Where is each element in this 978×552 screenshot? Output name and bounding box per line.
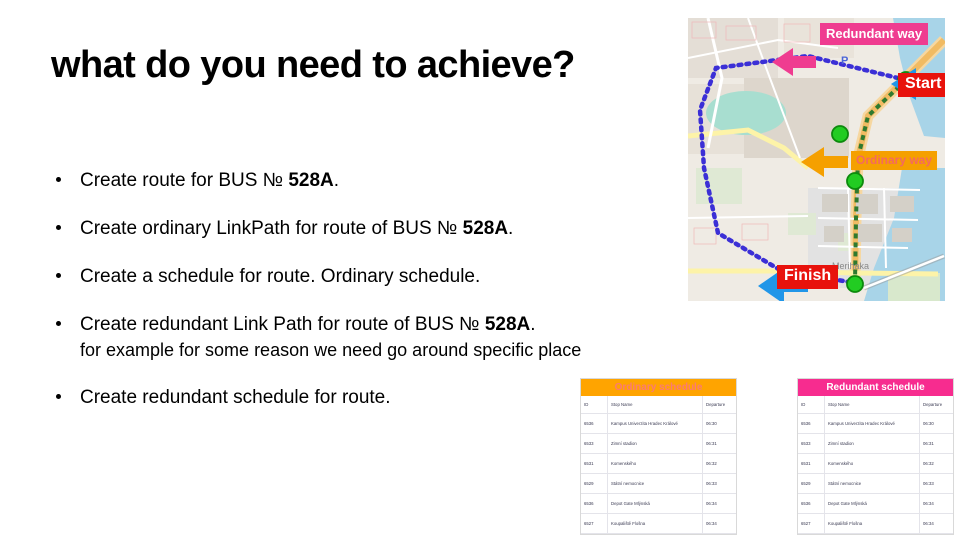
cell-stop-name: Komenského — [825, 454, 920, 474]
cell-id: 6531 — [798, 454, 825, 474]
bullet-dot-icon — [56, 273, 61, 278]
bullet-dot-icon — [56, 321, 61, 326]
cell-id: 6536 — [581, 494, 608, 514]
cell-id: 6533 — [581, 434, 608, 454]
bullet-text-tail: . — [508, 218, 513, 239]
table-row: 6536 Depot Gate Mlýnská 06:34 — [798, 494, 953, 514]
table-row: 6536 Depot Gate Mlýnská 06:34 — [581, 494, 736, 514]
presentation-slide: what do you need to achieve? Create rout… — [0, 0, 978, 552]
cell-stop-name: Zimní stadion — [825, 434, 920, 454]
table-row: 6536 Kampus Univerzita Hradec Králové 06… — [581, 414, 736, 434]
map-label-redundant-way: Redundant way — [820, 23, 928, 45]
cell-stop-name: Státní nemocnice — [608, 474, 703, 494]
cell-id: 6527 — [798, 514, 825, 534]
svg-text:P: P — [841, 55, 848, 67]
column-header-id: ID — [798, 396, 825, 414]
list-item: Create ordinary LinkPath for route of BU… — [52, 216, 692, 241]
table-row: 6536 Kampus Univerzita Hradec Králové 06… — [798, 414, 953, 434]
bullet-bold: 528A — [288, 170, 333, 191]
column-header-stop-name: Stop Name — [608, 396, 703, 414]
cell-departure: 06:34 — [703, 494, 737, 514]
cell-departure: 06:32 — [920, 454, 954, 474]
bullet-text-tail: . — [334, 170, 339, 191]
schedule-body: 6536 Kampus Univerzita Hradec Králové 06… — [798, 414, 953, 534]
cell-id: 6536 — [798, 414, 825, 434]
bullet-text: Create ordinary LinkPath for route of BU… — [80, 218, 463, 239]
cell-departure: 06:31 — [703, 434, 737, 454]
bullet-text-tail: . — [530, 314, 535, 335]
cell-id: 6533 — [798, 434, 825, 454]
cell-departure: 06:33 — [703, 474, 737, 494]
cell-id: 6536 — [798, 494, 825, 514]
cell-departure: 06:31 — [920, 434, 954, 454]
bullet-text: Create redundant schedule for route. — [80, 387, 391, 408]
column-header-stop-name: Stop Name — [825, 396, 920, 414]
list-item: Create route for BUS № 528A. — [52, 168, 692, 193]
ordinary-schedule-title: Ordinary schedule — [581, 379, 736, 396]
cell-departure: 06:34 — [703, 514, 737, 534]
table-row: 6529 Státní nemocnice 06:33 — [581, 474, 736, 494]
stop-marker — [847, 173, 863, 189]
ordinary-schedule-table: Ordinary schedule ID Stop Name Departure… — [580, 378, 737, 535]
cell-stop-name: Koupaliště Flošna — [825, 514, 920, 534]
cell-departure: 06:30 — [703, 414, 737, 434]
bullet-dot-icon — [56, 394, 61, 399]
cell-stop-name: Zimní stadion — [608, 434, 703, 454]
schedule-grid: ID Stop Name Departure 6536 Kampus Unive… — [798, 396, 953, 534]
cell-stop-name: Kampus Univerzita Hradec Králové — [825, 414, 920, 434]
bullet-text: Create redundant Link Path for route of … — [80, 314, 485, 335]
bullet-text: Create a schedule for route. Ordinary sc… — [80, 266, 480, 287]
list-item: Create redundant Link Path for route of … — [52, 312, 692, 362]
cell-departure: 06:34 — [920, 514, 954, 534]
redundant-schedule-table: Redundant schedule ID Stop Name Departur… — [797, 378, 954, 535]
cell-id: 6529 — [581, 474, 608, 494]
bullet-text: Create route for BUS № — [80, 170, 288, 191]
stop-marker — [847, 276, 863, 292]
bullet-bold: 528A — [485, 314, 530, 335]
cell-stop-name: Státní nemocnice — [825, 474, 920, 494]
cell-stop-name: Komenského — [608, 454, 703, 474]
table-row: 6529 Státní nemocnice 06:33 — [798, 474, 953, 494]
column-header-id: ID — [581, 396, 608, 414]
cell-departure: 06:30 — [920, 414, 954, 434]
table-row: 6527 Koupaliště Flošna 06:34 — [798, 514, 953, 534]
bullet-dot-icon — [56, 225, 61, 230]
redundant-schedule-title: Redundant schedule — [798, 379, 953, 396]
table-header-row: ID Stop Name Departure — [798, 396, 953, 414]
stop-marker — [832, 126, 848, 142]
cell-stop-name: Kampus Univerzita Hradec Králové — [608, 414, 703, 434]
table-row: 6531 Komenského 06:32 — [581, 454, 736, 474]
cell-stop-name: Koupaliště Flošna — [608, 514, 703, 534]
cell-id: 6536 — [581, 414, 608, 434]
cell-departure: 06:34 — [920, 494, 954, 514]
cell-id: 6529 — [798, 474, 825, 494]
cell-stop-name: Depot Gate Mlýnská — [825, 494, 920, 514]
column-header-departure: Departure — [920, 396, 954, 414]
list-item: Create a schedule for route. Ordinary sc… — [52, 264, 692, 289]
bullet-bold: 528A — [463, 218, 508, 239]
column-header-departure: Departure — [703, 396, 737, 414]
page-title: what do you need to achieve? — [51, 44, 575, 87]
cell-id: 6531 — [581, 454, 608, 474]
map-label-start: Start — [898, 73, 945, 97]
bullet-subtext: for example for some reason we need go a… — [80, 338, 692, 362]
table-header-row: ID Stop Name Departure — [581, 396, 736, 414]
table-row: 6527 Koupaliště Flošna 06:34 — [581, 514, 736, 534]
schedule-body: 6536 Kampus Univerzita Hradec Králové 06… — [581, 414, 736, 534]
map-label-ordinary-way: Ordinary way — [851, 151, 937, 170]
table-row: 6531 Komenského 06:32 — [798, 454, 953, 474]
cell-stop-name: Depot Gate Mlýnská — [608, 494, 703, 514]
route-map-image: P Merihaka Redundant way Ordinary way St… — [688, 18, 945, 301]
cell-id: 6527 — [581, 514, 608, 534]
schedule-grid: ID Stop Name Departure 6536 Kampus Unive… — [581, 396, 736, 534]
bullet-dot-icon — [56, 177, 61, 182]
cell-departure: 06:33 — [920, 474, 954, 494]
cell-departure: 06:32 — [703, 454, 737, 474]
table-row: 6533 Zimní stadion 06:31 — [581, 434, 736, 454]
map-label-finish: Finish — [777, 265, 838, 289]
table-row: 6533 Zimní stadion 06:31 — [798, 434, 953, 454]
